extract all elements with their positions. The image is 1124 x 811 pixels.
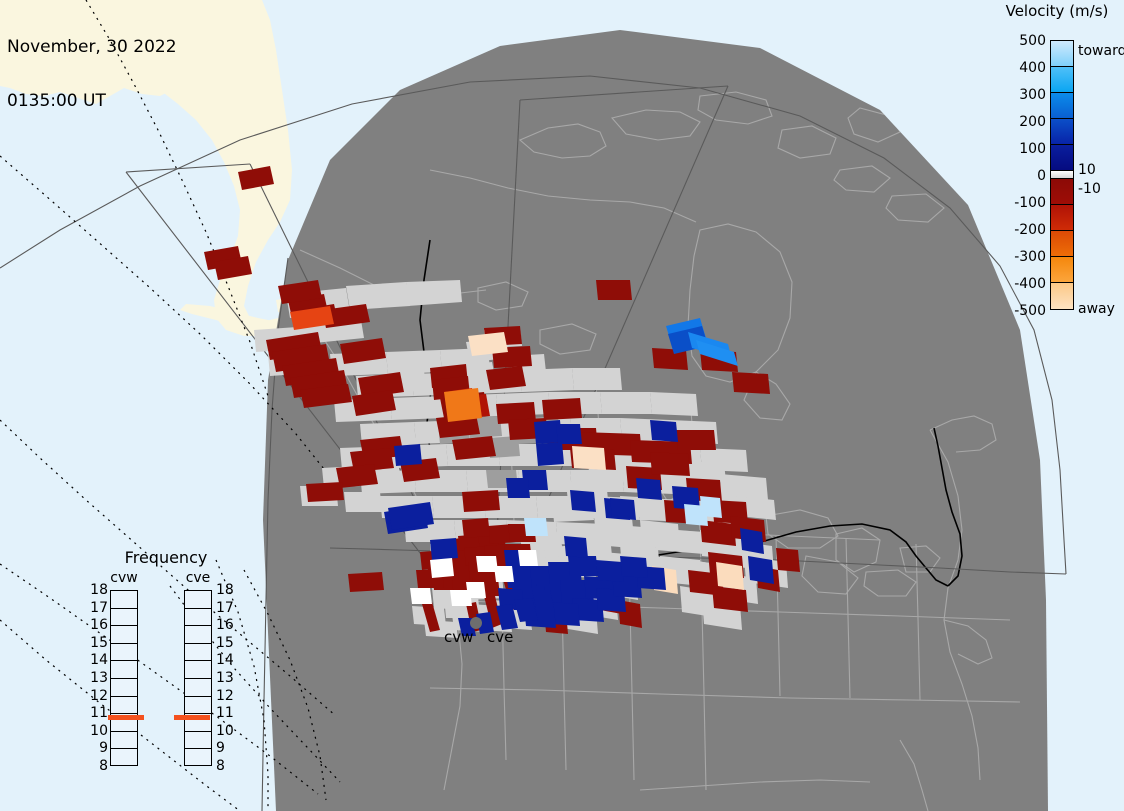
frequency-tick-cvw-17: 17 bbox=[84, 601, 108, 615]
frequency-legend: Frequency cvw18171615141312111098 cve181… bbox=[86, 548, 246, 788]
frequency-scale-segment bbox=[185, 697, 211, 715]
frequency-tick-cvw-14: 14 bbox=[84, 653, 108, 667]
colorbar-cell--250 bbox=[1051, 231, 1073, 257]
frequency-tick-cvw-15: 15 bbox=[84, 636, 108, 650]
colorbar-tick-labels: 5004003002001000-100-200-300-400-500 bbox=[990, 0, 1046, 340]
frequency-scale-segment bbox=[185, 609, 211, 627]
frequency-scale-segment bbox=[185, 732, 211, 750]
frequency-scale-segment bbox=[111, 732, 137, 750]
frequency-tick-cve-18: 18 bbox=[216, 583, 240, 597]
frequency-legend-title: Frequency bbox=[86, 548, 246, 567]
frequency-scale-segment bbox=[185, 626, 211, 644]
frequency-scale-segment bbox=[111, 697, 137, 715]
frequency-tick-cvw-8: 8 bbox=[84, 759, 108, 773]
colorbar-tick-300: 300 bbox=[990, 88, 1046, 102]
frequency-tick-cvw-13: 13 bbox=[84, 671, 108, 685]
frequency-tick-cve-17: 17 bbox=[216, 601, 240, 615]
frequency-tick-cve-13: 13 bbox=[216, 671, 240, 685]
frequency-scale-segment bbox=[185, 661, 211, 679]
frequency-tick-cvw-18: 18 bbox=[84, 583, 108, 597]
frequency-scale-segment bbox=[185, 644, 211, 662]
station-label-cvw: cvw bbox=[444, 628, 473, 646]
frequency-tick-cvw-11: 11 bbox=[84, 706, 108, 720]
frequency-tick-cve-11: 11 bbox=[216, 706, 240, 720]
frequency-scale-segment bbox=[111, 749, 137, 767]
frequency-tick-cvw-16: 16 bbox=[84, 618, 108, 632]
colorbar-tick--200: -200 bbox=[990, 223, 1046, 237]
frequency-marker-cvw bbox=[108, 715, 144, 720]
frequency-scale-segment bbox=[111, 644, 137, 662]
velocity-colorbar: Velocity (m/s) 5004003002001000-100-200-… bbox=[990, 0, 1124, 340]
frequency-scale-box-cvw bbox=[110, 590, 138, 766]
colorbar-toward-label: toward bbox=[1078, 44, 1124, 58]
colorbar-tick-200: 200 bbox=[990, 115, 1046, 129]
colorbar-cell--450 bbox=[1051, 283, 1073, 309]
timestamp: November, 30 2022 0135:00 UT bbox=[7, 2, 177, 146]
colorbar-cell--55 bbox=[1051, 179, 1073, 205]
timestamp-time: 0135:00 UT bbox=[7, 92, 177, 110]
frequency-marker-cve bbox=[174, 715, 210, 720]
frequency-tick-cve-9: 9 bbox=[216, 741, 240, 755]
colorbar-lower-threshold-label: -10 bbox=[1078, 182, 1101, 196]
frequency-scale-segment bbox=[111, 626, 137, 644]
frequency-scale-segment bbox=[185, 679, 211, 697]
colorbar-cell-450 bbox=[1051, 41, 1073, 67]
colorbar-cell-0 bbox=[1051, 171, 1073, 179]
frequency-scale-box-cve bbox=[184, 590, 212, 766]
colorbar-tick--500: -500 bbox=[990, 304, 1046, 318]
frequency-tick-cve-16: 16 bbox=[216, 618, 240, 632]
colorbar-tick-500: 500 bbox=[990, 34, 1046, 48]
colorbar-tick-400: 400 bbox=[990, 61, 1046, 75]
frequency-scale-segment bbox=[185, 749, 211, 767]
colorbar-tick--400: -400 bbox=[990, 277, 1046, 291]
frequency-tick-cve-12: 12 bbox=[216, 689, 240, 703]
colorbar-away-label: away bbox=[1078, 302, 1115, 316]
frequency-tick-cve-15: 15 bbox=[216, 636, 240, 650]
timestamp-date: November, 30 2022 bbox=[7, 38, 177, 56]
colorbar-upper-threshold-label: 10 bbox=[1078, 163, 1096, 177]
colorbar-cell--350 bbox=[1051, 257, 1073, 283]
frequency-scale-segment bbox=[111, 609, 137, 627]
frequency-tick-cve-8: 8 bbox=[216, 759, 240, 773]
frequency-scale-segment bbox=[111, 679, 137, 697]
frequency-tick-cve-14: 14 bbox=[216, 653, 240, 667]
frequency-scale-segment bbox=[111, 661, 137, 679]
colorbar-tick--300: -300 bbox=[990, 250, 1046, 264]
colorbar-cell--150 bbox=[1051, 205, 1073, 231]
colorbar-cell-55 bbox=[1051, 145, 1073, 171]
fan-plot-root: November, 30 2022 0135:00 UT cvw cve Vel… bbox=[0, 0, 1124, 811]
frequency-tick-cvw-9: 9 bbox=[84, 741, 108, 755]
frequency-tick-cvw-10: 10 bbox=[84, 724, 108, 738]
frequency-tick-cvw-12: 12 bbox=[84, 689, 108, 703]
frequency-scale-segment bbox=[185, 591, 211, 609]
colorbar-tick--100: -100 bbox=[990, 196, 1046, 210]
colorbar-tick-100: 100 bbox=[990, 142, 1046, 156]
station-label-cve: cve bbox=[487, 628, 513, 646]
frequency-scale-segment bbox=[111, 591, 137, 609]
colorbar-tick-0: 0 bbox=[990, 169, 1046, 183]
colorbar-cell-250 bbox=[1051, 93, 1073, 119]
colorbar-cell-150 bbox=[1051, 119, 1073, 145]
colorbar-gradient bbox=[1050, 40, 1074, 310]
frequency-tick-cve-10: 10 bbox=[216, 724, 240, 738]
colorbar-cell-350 bbox=[1051, 67, 1073, 93]
